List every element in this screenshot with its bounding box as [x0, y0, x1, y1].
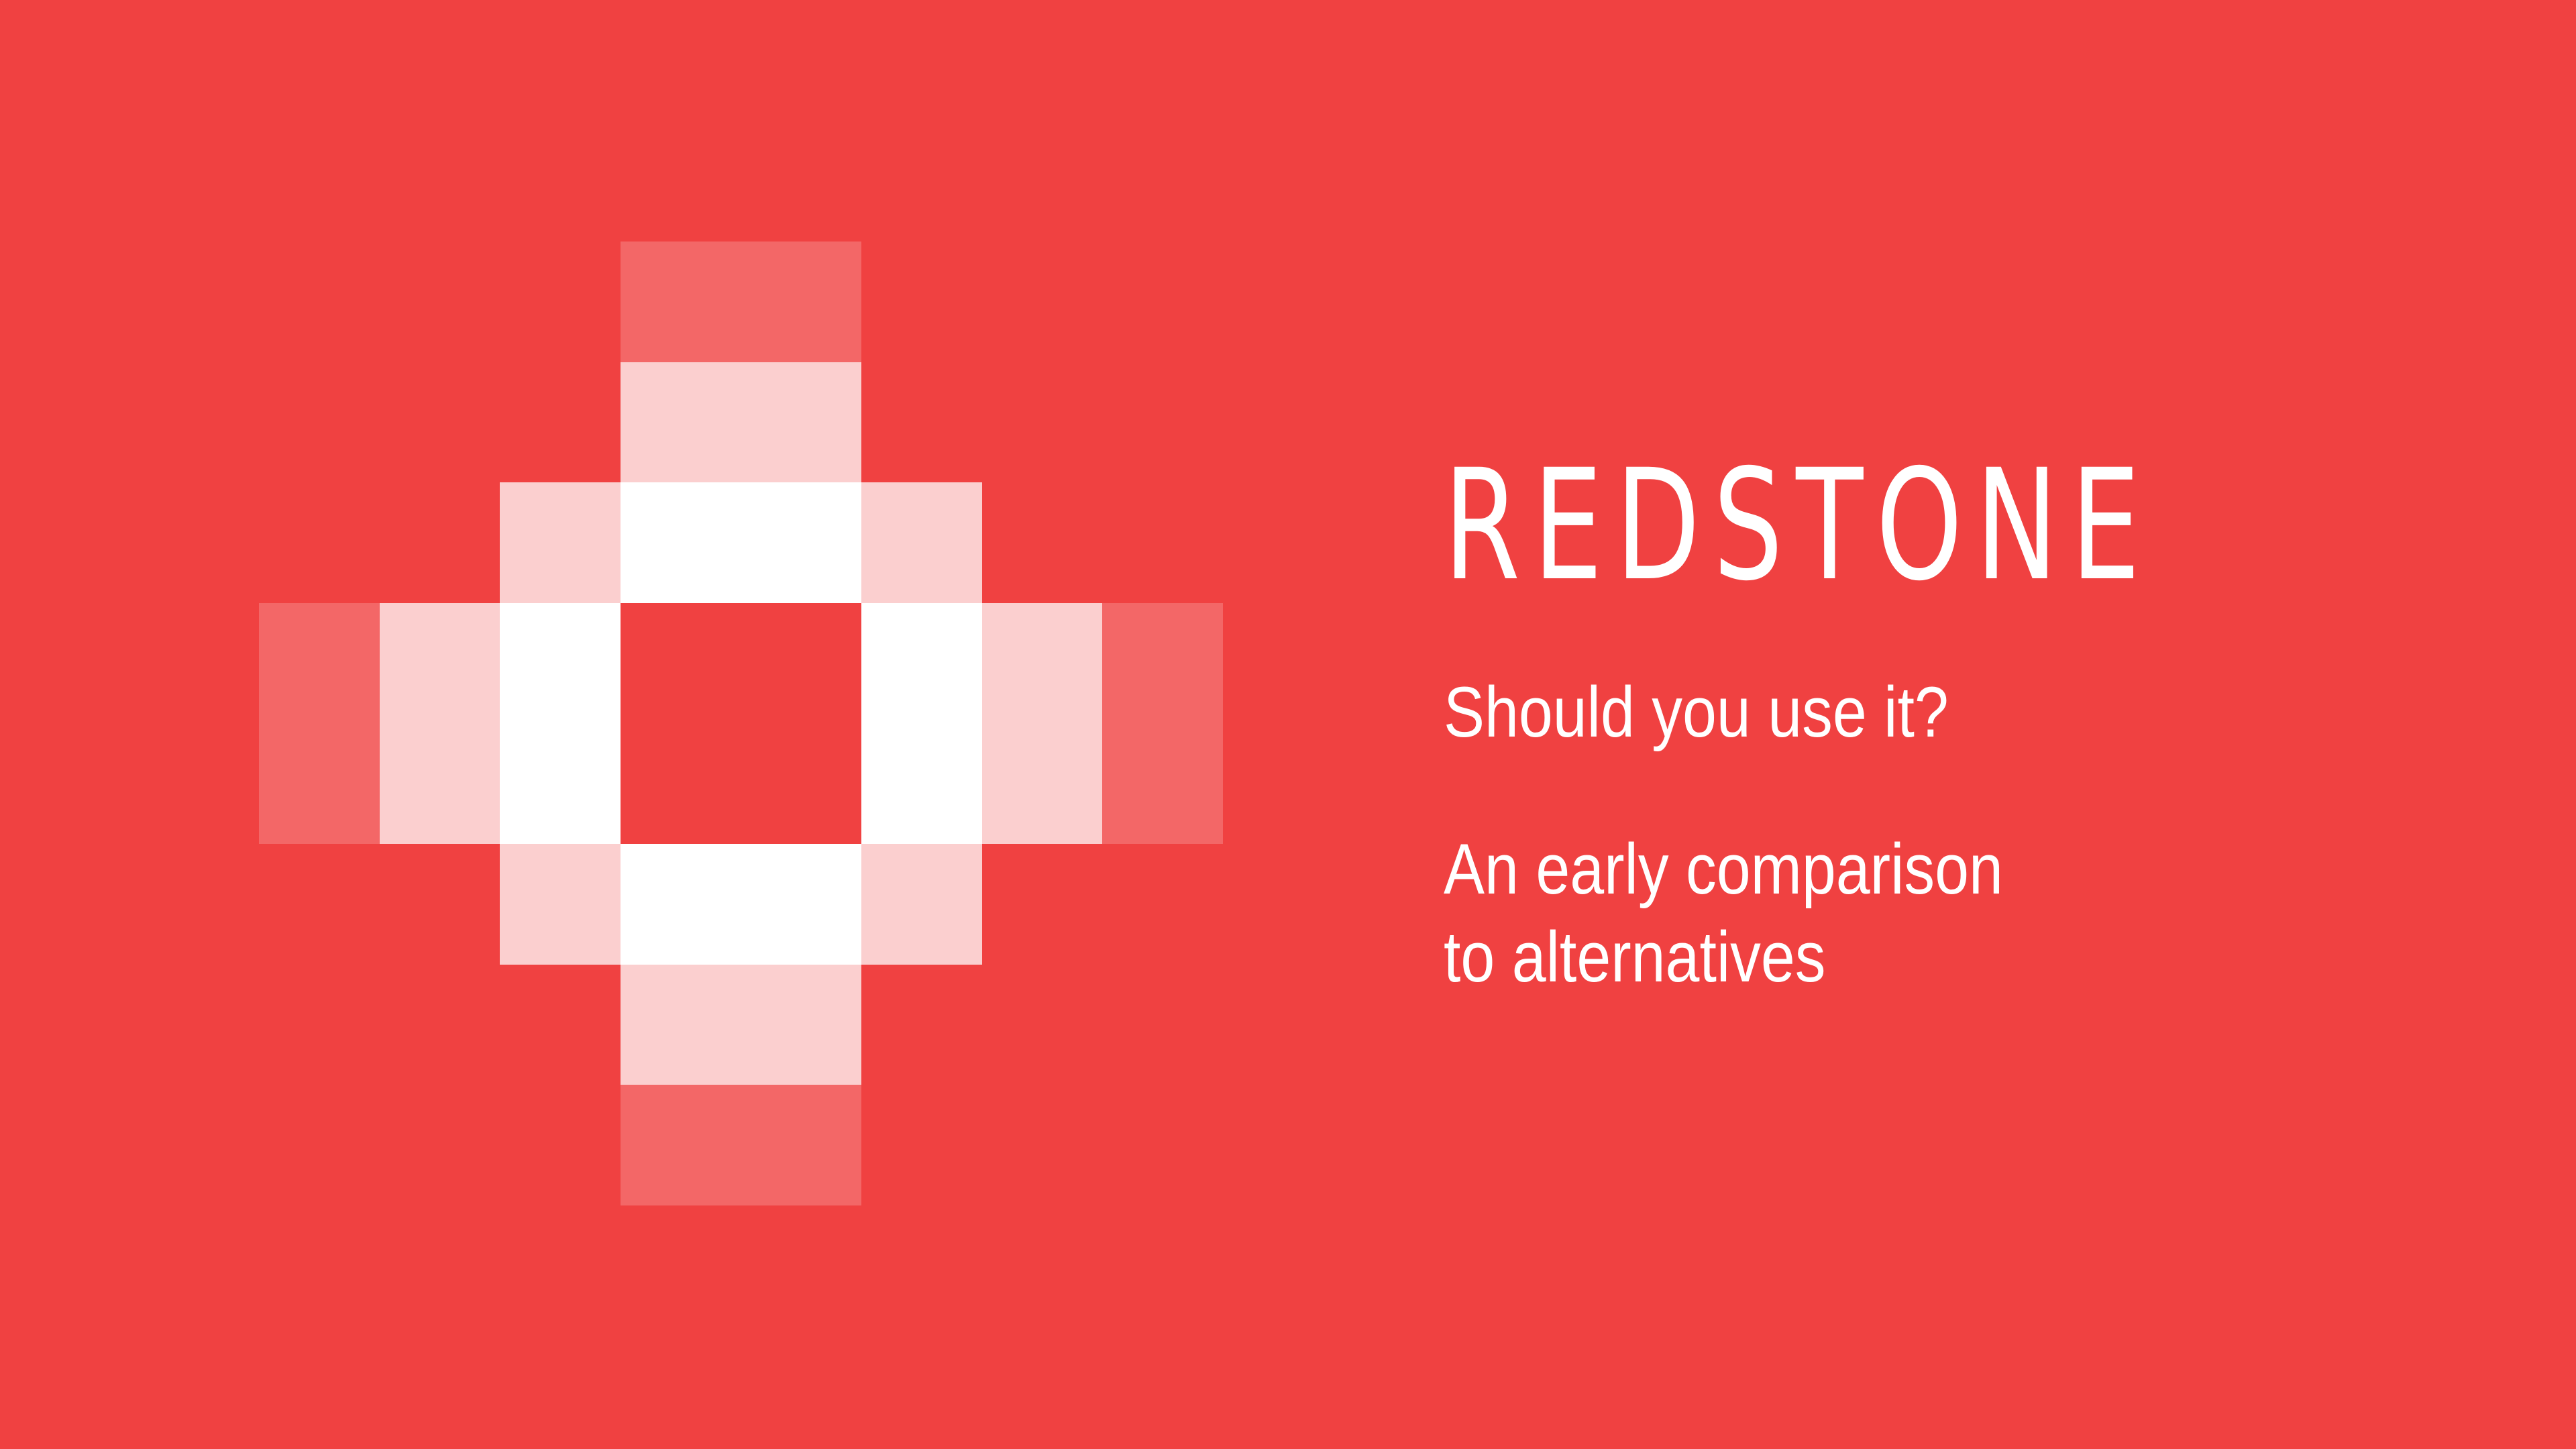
logo-pixel-cell — [259, 241, 380, 362]
logo-pixel-cell — [982, 844, 1103, 965]
logo-pixel-cell — [1102, 241, 1223, 362]
logo-pixel-cell — [741, 844, 862, 965]
logo-pixel-cell — [1102, 362, 1223, 483]
logo-pixel-cell — [741, 241, 862, 362]
logo-pixel-cell — [500, 844, 621, 965]
logo-pixel-cell — [500, 241, 621, 362]
logo-pixel-cell — [982, 482, 1103, 603]
logo-pixel-cell — [1102, 603, 1223, 724]
logo-pixel-cell — [500, 482, 621, 603]
logo-pixel-cell — [741, 1085, 862, 1205]
logo-pixel-cell — [621, 965, 741, 1085]
logo-pixel-cell — [380, 241, 500, 362]
logo-pixel-cell — [259, 965, 380, 1085]
logo-pixel-cell — [621, 241, 741, 362]
logo-pixel-cell — [982, 603, 1103, 724]
redstone-pixel-cross-logo — [259, 241, 1223, 1205]
logo-pixel-cell — [500, 724, 621, 845]
logo-pixel-cell — [1102, 1085, 1223, 1205]
logo-pixel-cell — [500, 603, 621, 724]
logo-pixel-cell — [621, 724, 741, 845]
logo-pixel-cell — [741, 482, 862, 603]
logo-pixel-cell — [1102, 965, 1223, 1085]
logo-pixel-cell — [741, 603, 862, 724]
logo-pixel-cell — [621, 362, 741, 483]
logo-pixel-cell — [380, 724, 500, 845]
logo-pixel-cell — [861, 724, 982, 845]
logo-pixel-cell — [741, 724, 862, 845]
title-text-block: REDSTONE Should you use it? An early com… — [1444, 463, 2416, 588]
logo-pixel-cell — [861, 603, 982, 724]
page-title: REDSTONE — [1444, 463, 2222, 588]
logo-pixel-cell — [861, 241, 982, 362]
logo-pixel-cell — [380, 965, 500, 1085]
logo-pixel-cell — [380, 362, 500, 483]
logo-pixel-cell — [621, 603, 741, 724]
tagline-question: Should you use it? — [1444, 676, 1949, 748]
title-slide: REDSTONE Should you use it? An early com… — [0, 0, 2576, 1449]
logo-pixel-cell — [741, 965, 862, 1085]
logo-pixel-cell — [982, 241, 1103, 362]
logo-pixel-cell — [259, 844, 380, 965]
logo-pixel-cell — [259, 724, 380, 845]
logo-pixel-cell — [861, 482, 982, 603]
logo-pixel-cell — [259, 482, 380, 603]
logo-pixel-cell — [500, 362, 621, 483]
logo-pixel-cell — [259, 362, 380, 483]
logo-pixel-cell — [982, 724, 1103, 845]
logo-pixel-cell — [861, 362, 982, 483]
logo-pixel-cell — [861, 844, 982, 965]
logo-pixel-cell — [621, 1085, 741, 1205]
logo-pixel-cell — [982, 1085, 1103, 1205]
logo-pixel-cell — [380, 603, 500, 724]
logo-pixel-cell — [621, 844, 741, 965]
logo-pixel-cell — [1102, 482, 1223, 603]
logo-pixel-cell — [1102, 724, 1223, 845]
logo-pixel-cell — [982, 362, 1103, 483]
logo-pixel-cell — [982, 965, 1103, 1085]
logo-pixel-cell — [741, 362, 862, 483]
logo-pixel-cell — [861, 965, 982, 1085]
logo-pixel-cell — [621, 482, 741, 603]
logo-pixel-cell — [259, 603, 380, 724]
logo-pixel-cell — [861, 1085, 982, 1205]
logo-pixel-cell — [1102, 844, 1223, 965]
logo-pixel-cell — [380, 844, 500, 965]
logo-pixel-cell — [380, 1085, 500, 1205]
tagline-description: An early comparison to alternatives — [1444, 825, 2003, 1000]
logo-pixel-cell — [500, 1085, 621, 1205]
logo-pixel-cell — [259, 1085, 380, 1205]
logo-pixel-cell — [380, 482, 500, 603]
logo-pixel-cell — [500, 965, 621, 1085]
